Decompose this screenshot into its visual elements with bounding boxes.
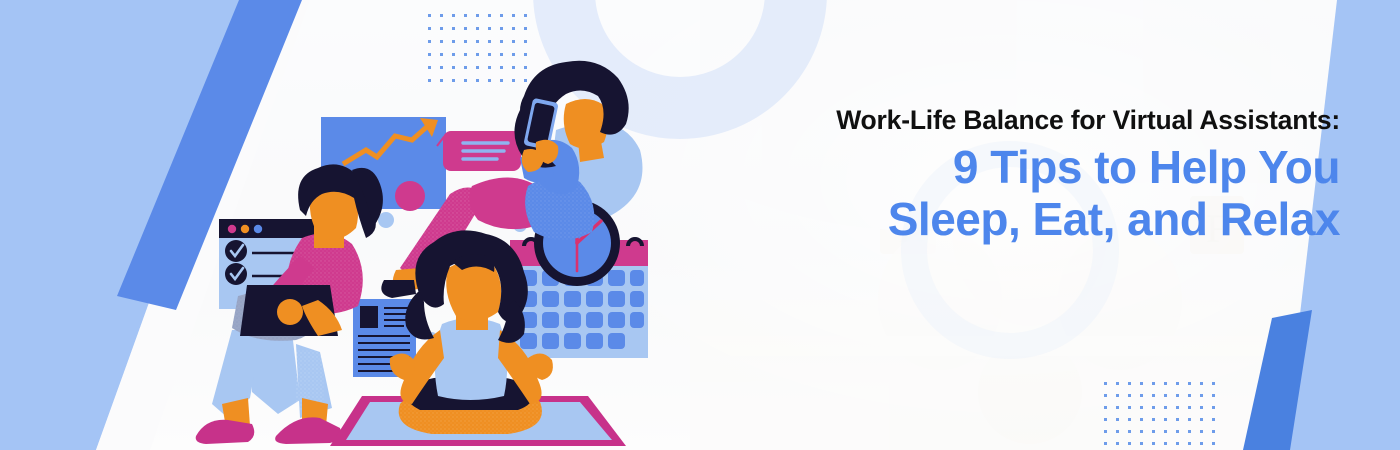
browser-dot-blue bbox=[254, 225, 262, 233]
browser-dot-orange bbox=[241, 225, 249, 233]
banner: W L R F bbox=[0, 0, 1400, 450]
headline-line-2: Sleep, Eat, and Relax bbox=[640, 194, 1340, 246]
pale-blue-dot-1 bbox=[378, 212, 394, 228]
headline-kicker: Work-Life Balance for Virtual Assistants… bbox=[640, 104, 1340, 136]
pink-circle-accent bbox=[395, 181, 425, 211]
dot-grid-top bbox=[428, 14, 532, 88]
browser-dot-pink bbox=[228, 225, 236, 233]
headline-line-1: 9 Tips to Help You bbox=[640, 142, 1340, 194]
dot-grid-bottom bbox=[1104, 382, 1220, 450]
headline-block: Work-Life Balance for Virtual Assistants… bbox=[640, 104, 1340, 246]
